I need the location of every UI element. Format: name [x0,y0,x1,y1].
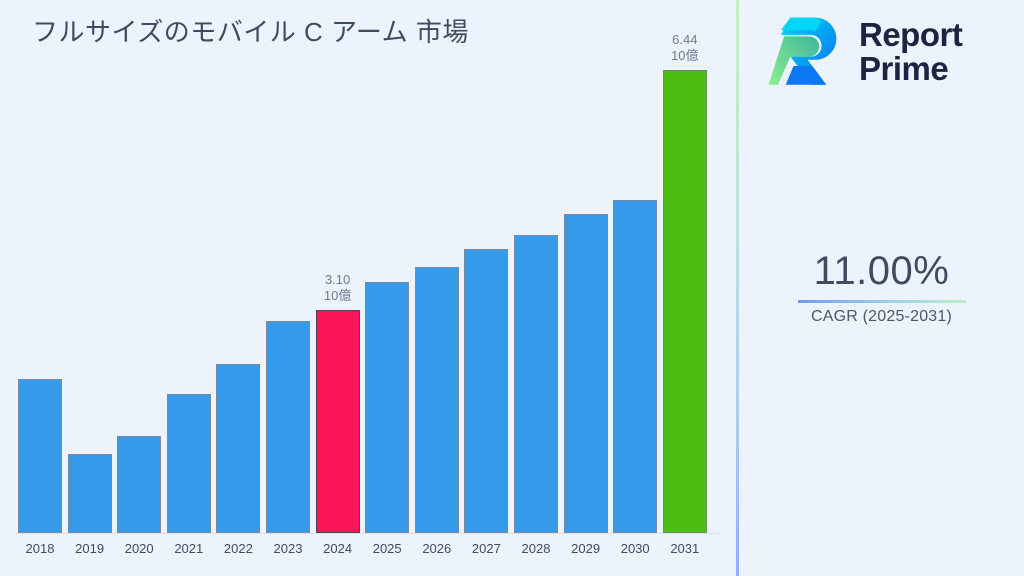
bar-rect-2021[interactable] [167,394,211,533]
bar-chart-plot: 2018201920202021202220233.1010億202420252… [0,0,737,576]
x-tick-2027: 2027 [464,541,508,556]
bar-2018[interactable] [18,379,62,533]
x-tick-2022: 2022 [216,541,260,556]
brand-logo: Report Prime [767,12,962,92]
bar-rect-2028[interactable] [514,235,558,533]
bar-rect-2029[interactable] [564,214,608,533]
brand-wordmark: Report Prime [859,18,962,87]
bar-2020[interactable] [117,436,161,533]
brand-name-line2: Prime [859,52,962,86]
bar-rect-2027[interactable] [464,249,508,533]
cagr-block: 11.00% CAGR (2025-2031) [739,248,1024,326]
bar-rect-2019[interactable] [68,454,112,533]
bar-rect-2026[interactable] [415,267,459,533]
bar-2029[interactable] [564,214,608,533]
bar-2024[interactable]: 3.1010億 [316,310,360,533]
x-tick-2026: 2026 [415,541,459,556]
chart-canvas: フルサイズのモバイル C アーム 市場 20182019202020212022… [0,0,1024,576]
x-tick-2020: 2020 [117,541,161,556]
x-tick-2023: 2023 [266,541,310,556]
bar-2023[interactable] [266,321,310,533]
x-tick-2018: 2018 [18,541,62,556]
bar-2022[interactable] [216,364,260,533]
bar-rect-2020[interactable] [117,436,161,533]
x-tick-2019: 2019 [68,541,112,556]
bar-value-label-2024: 3.1010億 [324,272,351,304]
bar-2021[interactable] [167,394,211,533]
bar-rect-2018[interactable] [18,379,62,533]
brand-panel: Report Prime 11.00% CAGR (2025-2031) [739,0,1024,576]
x-tick-2021: 2021 [167,541,211,556]
cagr-divider [798,300,966,303]
x-axis-line [14,533,720,534]
chart-panel: フルサイズのモバイル C アーム 市場 20182019202020212022… [0,0,737,576]
x-tick-2031: 2031 [663,541,707,556]
x-tick-2024: 2024 [316,541,360,556]
bar-2019[interactable] [68,454,112,533]
brand-name-line1: Report [859,18,962,52]
bar-rect-2023[interactable] [266,321,310,533]
x-tick-2028: 2028 [514,541,558,556]
bar-2030[interactable] [613,200,657,533]
bar-rect-2031[interactable] [663,70,707,533]
x-tick-2030: 2030 [613,541,657,556]
bar-2027[interactable] [464,249,508,533]
bar-rect-2022[interactable] [216,364,260,533]
bar-value-label-2031: 6.4410億 [671,32,698,64]
bar-rect-2024[interactable] [316,310,360,533]
x-tick-2029: 2029 [564,541,608,556]
bar-2025[interactable] [365,282,409,533]
x-tick-2025: 2025 [365,541,409,556]
bar-rect-2030[interactable] [613,200,657,533]
cagr-value: 11.00% [739,248,1024,294]
bar-2031[interactable]: 6.4410億 [663,70,707,533]
cagr-caption: CAGR (2025-2031) [739,308,1024,326]
bar-rect-2025[interactable] [365,282,409,533]
bar-2026[interactable] [415,267,459,533]
report-prime-r-logo-icon [767,12,845,92]
bar-2028[interactable] [514,235,558,533]
